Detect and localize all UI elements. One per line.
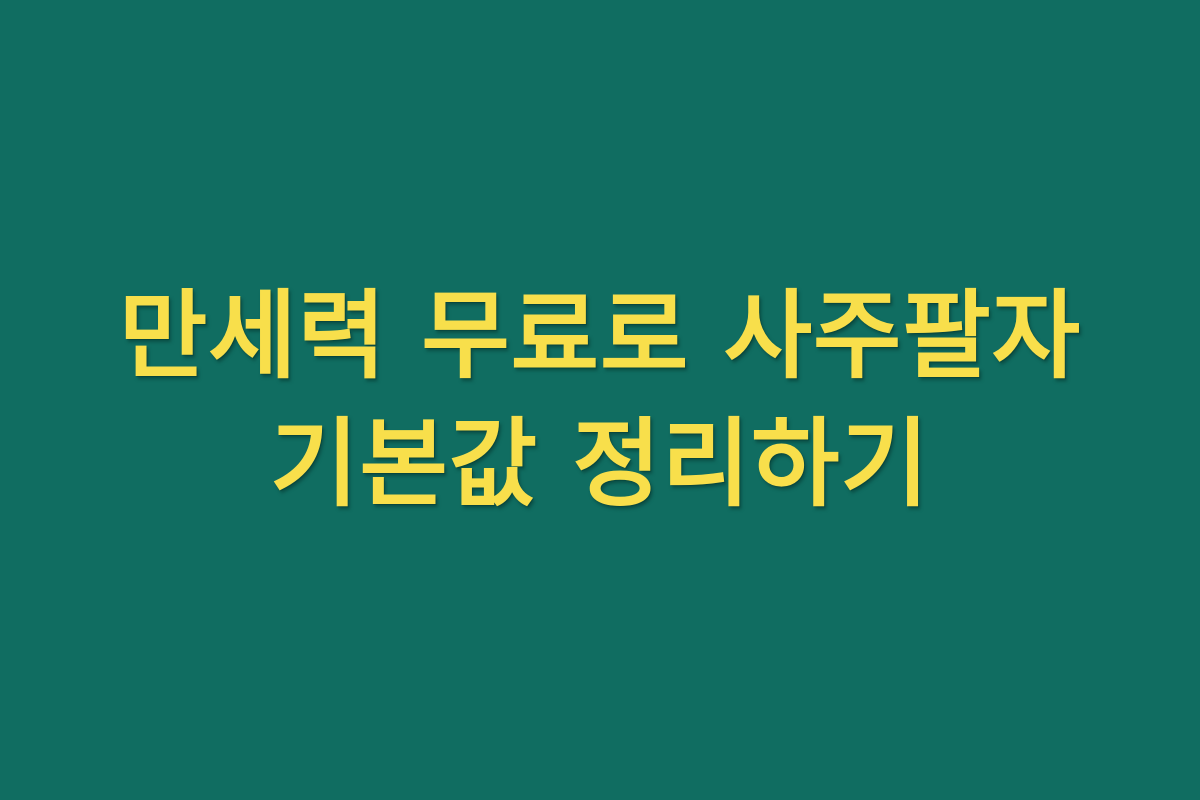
headline-block: 만세력 무료로 사주팔자 기본값 정리하기 [50, 272, 1150, 528]
headline-line-1: 만세력 무료로 사주팔자 [119, 272, 1081, 400]
banner-canvas: 만세력 무료로 사주팔자 기본값 정리하기 [0, 0, 1200, 800]
headline-line-2: 기본값 정리하기 [270, 400, 930, 528]
